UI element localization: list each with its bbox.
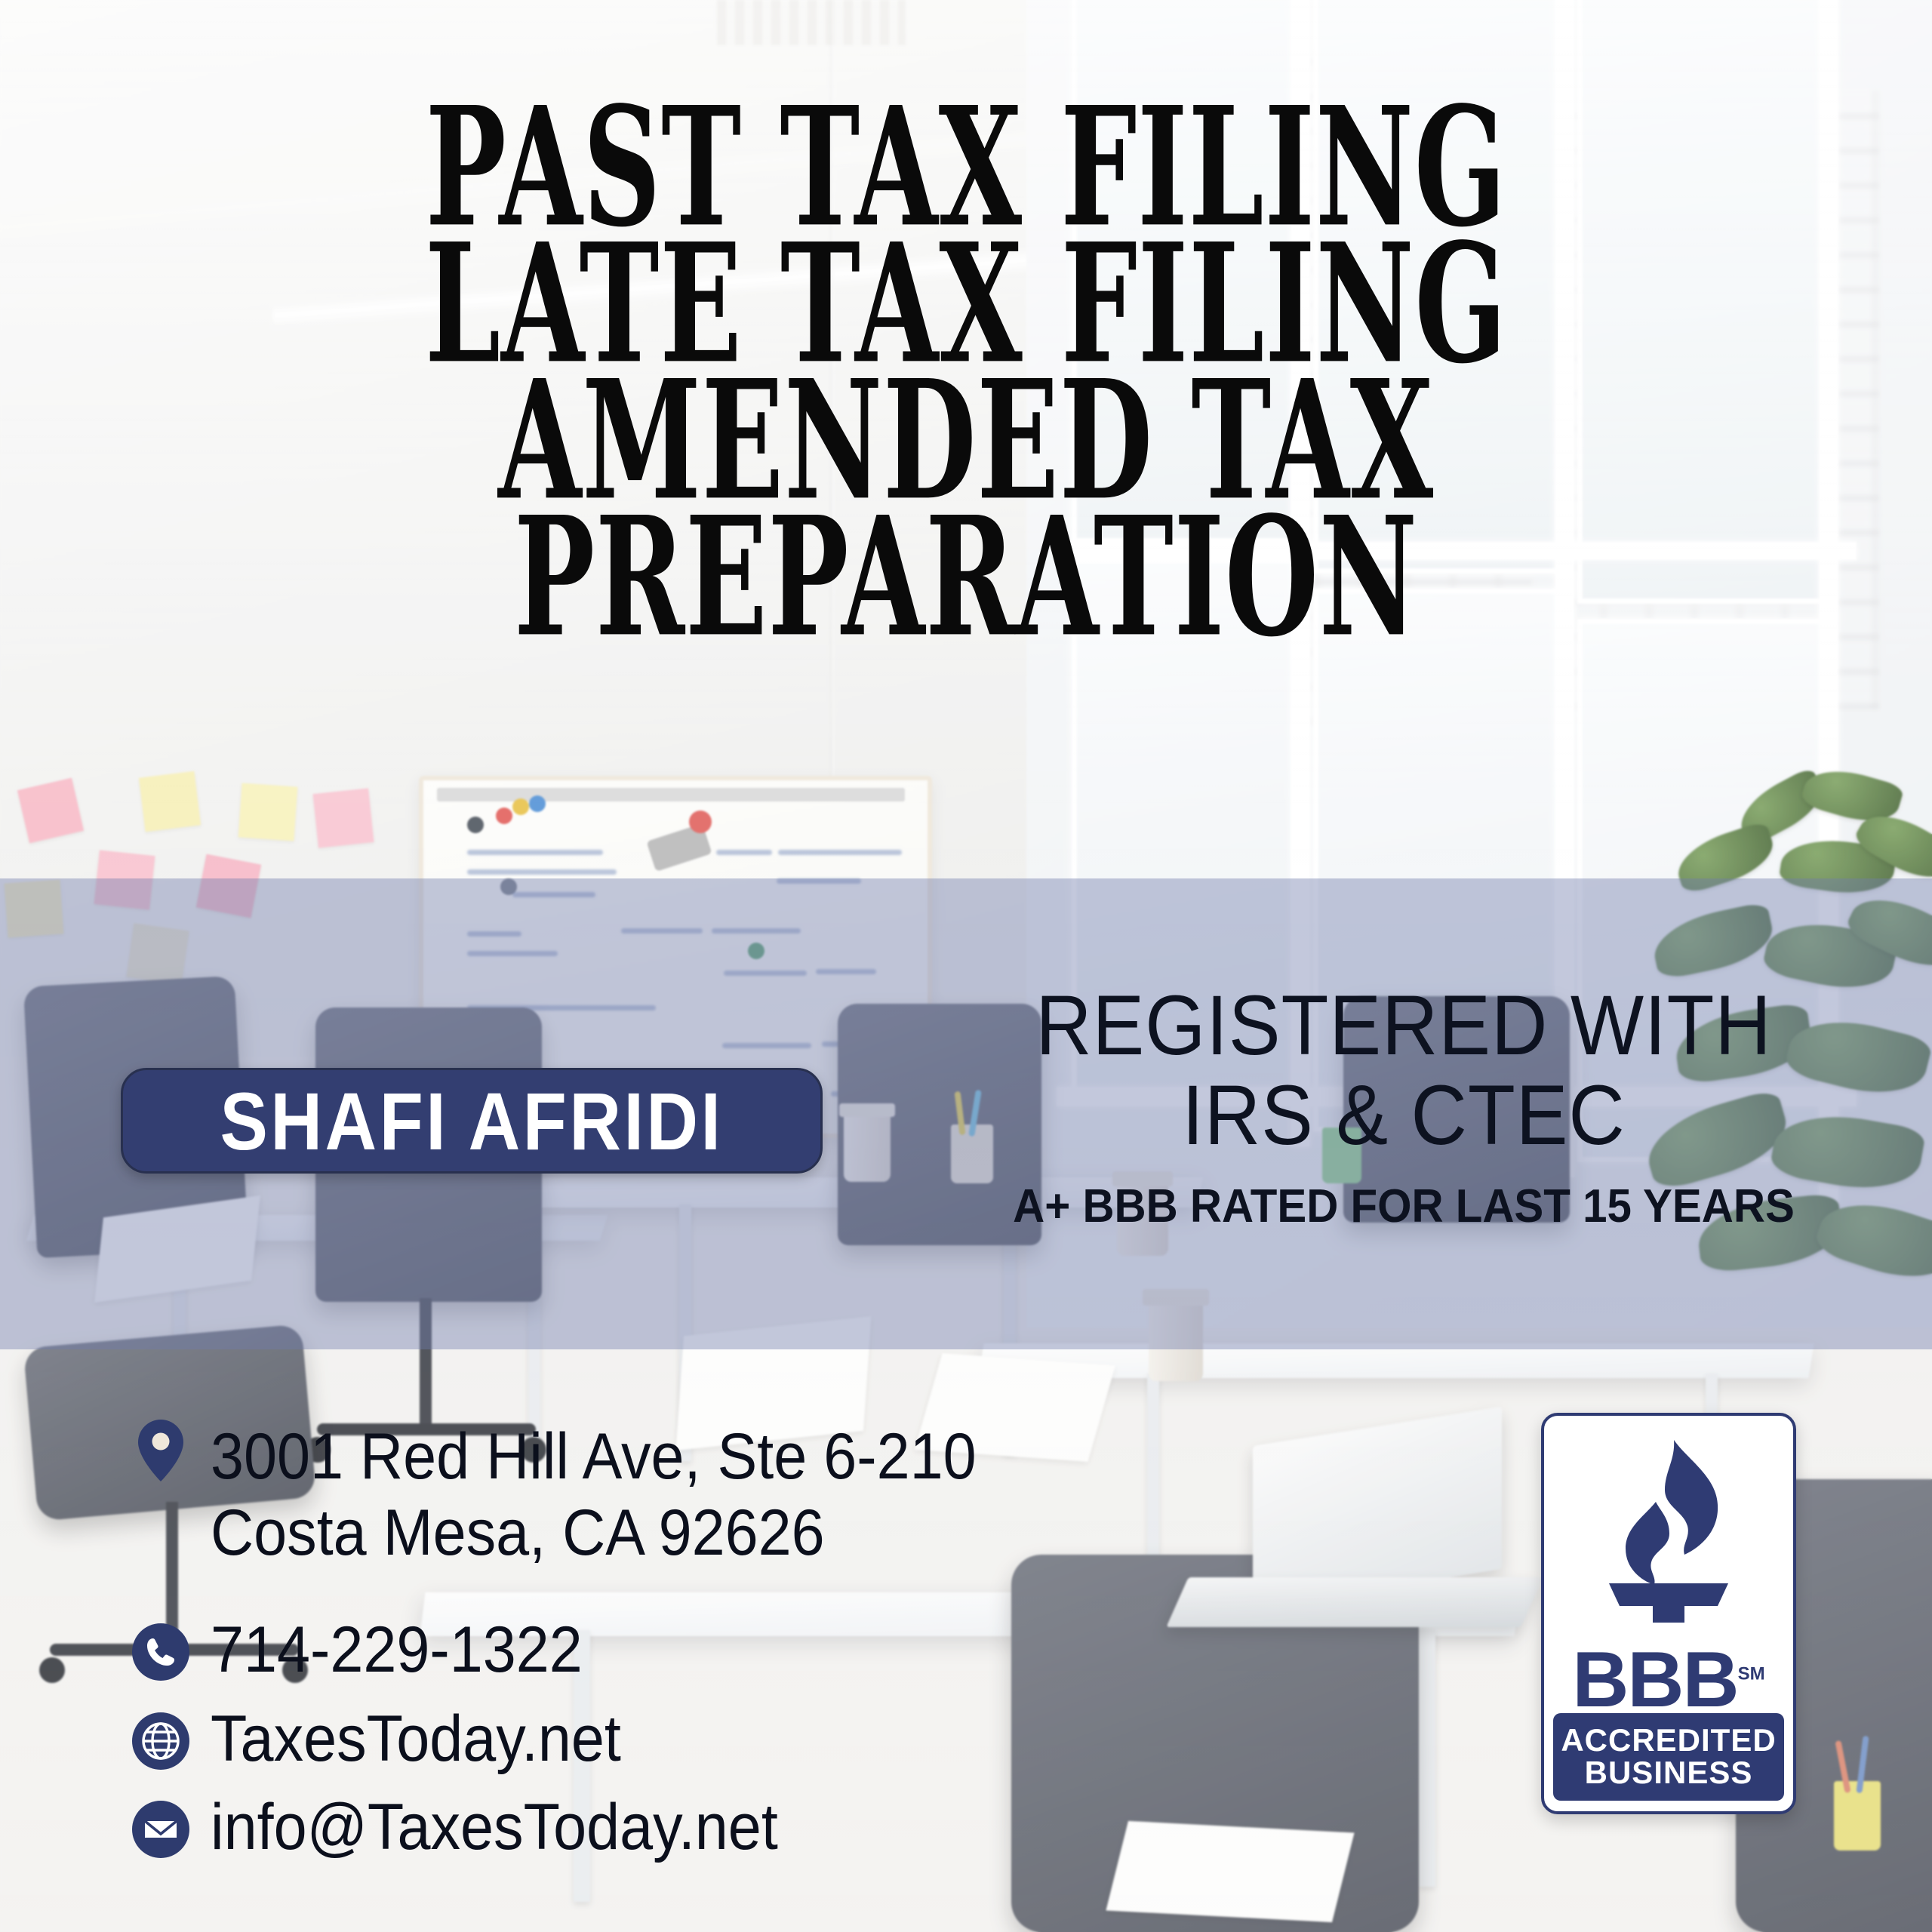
website-text: TaxesToday.net <box>211 1702 621 1777</box>
registered-with-line: REGISTERED WITH <box>931 981 1875 1071</box>
bbb-letters: BBBSM <box>1544 1641 1793 1719</box>
bbb-accredited-text: ACCREDITED <box>1561 1724 1776 1757</box>
bbb-service-mark: SM <box>1738 1663 1765 1684</box>
phone-icon <box>132 1623 189 1681</box>
bbb-accredited-band: ACCREDITED BUSINESS <box>1553 1713 1784 1801</box>
contact-row-address[interactable]: 3001 Red Hill Ave, Ste 6-210 Costa Mesa,… <box>132 1419 1264 1572</box>
irs-ctec-line: IRS & CTEC <box>931 1071 1875 1161</box>
bbb-accredited-business-logo: BBBSM ACCREDITED BUSINESS <box>1541 1413 1796 1814</box>
envelope-icon <box>132 1801 189 1858</box>
contact-row-website[interactable]: TaxesToday.net <box>132 1702 1264 1777</box>
headline-block: PAST TAX FILING LATE TAX FILING AMENDED … <box>0 89 1932 635</box>
bbb-torch-icon <box>1582 1435 1755 1643</box>
map-pin-icon <box>132 1422 189 1479</box>
address-line-1: 3001 Red Hill Ave, Ste 6-210 <box>211 1420 977 1493</box>
name-badge-text: SHAFI AFRIDI <box>220 1074 723 1168</box>
email-text: info@TaxesToday.net <box>211 1790 778 1866</box>
phone-text: 714-229-1322 <box>211 1613 583 1688</box>
bbb-letters-text: BBB <box>1572 1636 1737 1724</box>
address-text: 3001 Red Hill Ave, Ste 6-210 Costa Mesa,… <box>211 1419 977 1572</box>
contact-row-phone[interactable]: 714-229-1322 <box>132 1613 1264 1688</box>
registration-block: REGISTERED WITH IRS & CTEC A+ BBB RATED … <box>891 981 1917 1233</box>
headline-line-4: PREPARATION <box>193 499 1739 654</box>
address-line-2: Costa Mesa, CA 92626 <box>211 1497 825 1569</box>
bbb-business-text: BUSINESS <box>1585 1757 1753 1789</box>
globe-icon <box>132 1712 189 1770</box>
contact-block: 3001 Red Hill Ave, Ste 6-210 Costa Mesa,… <box>132 1419 1264 1870</box>
contact-row-email[interactable]: info@TaxesToday.net <box>132 1790 1264 1866</box>
flyer-canvas: PAST TAX FILING LATE TAX FILING AMENDED … <box>0 0 1932 1932</box>
bbb-rating-line: A+ BBB RATED FOR LAST 15 YEARS <box>921 1180 1886 1233</box>
name-badge: SHAFI AFRIDI <box>121 1068 823 1174</box>
